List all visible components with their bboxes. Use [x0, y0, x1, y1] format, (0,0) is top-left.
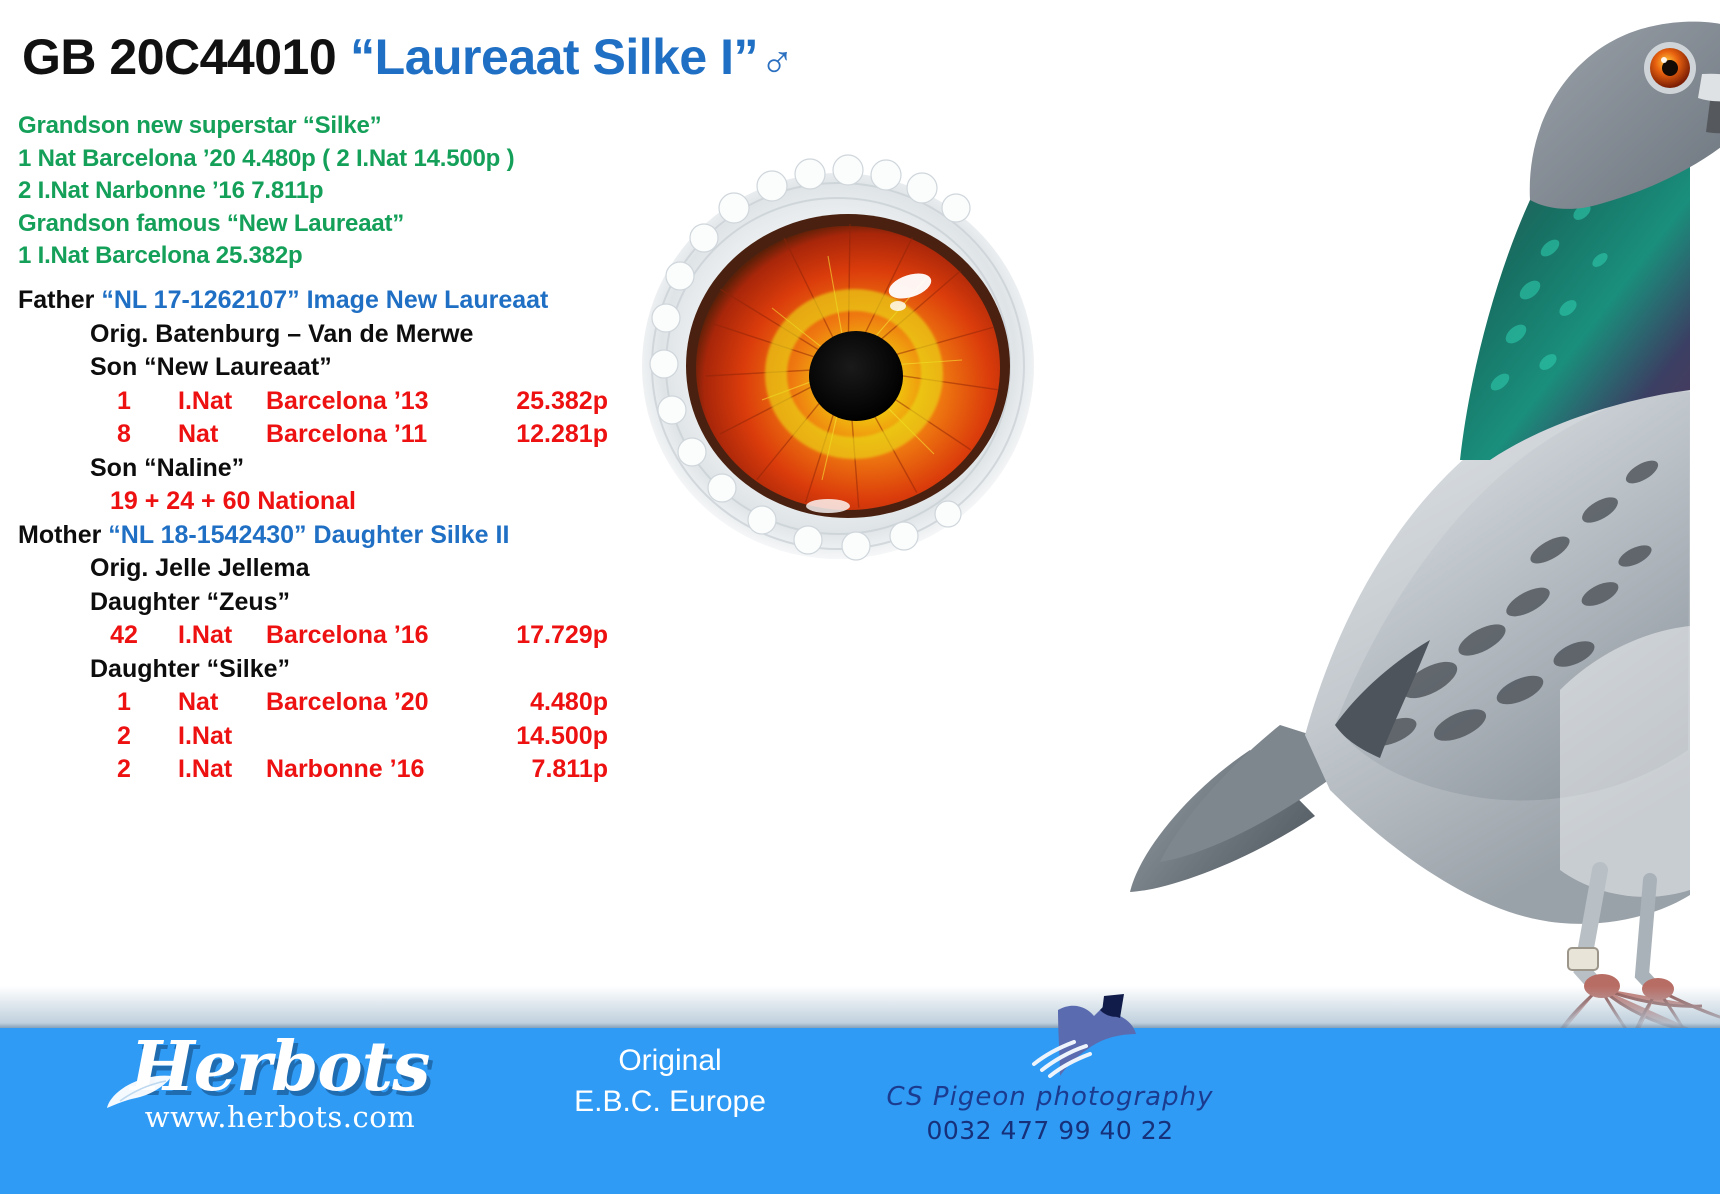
- highlight-line: 1 Nat Barcelona ’20 4.480p ( 2 I.Nat 14.…: [18, 143, 514, 176]
- highlight-list: Grandson new superstar “Silke” 1 Nat Bar…: [18, 110, 514, 273]
- pigeon-portrait-photo: [1130, 0, 1720, 1090]
- highlight-line: 2 I.Nat Narbonne ’16 7.811p: [18, 175, 514, 208]
- mother-origin: Orig. Jelle Jellema: [90, 552, 548, 586]
- result-race: Barcelona ’13: [266, 385, 429, 419]
- result-row: 1 I.Nat Barcelona ’13 25.382p: [18, 385, 548, 419]
- pigeon-eye-macro-photo: [622, 128, 1052, 568]
- result-position: 2: [96, 720, 152, 754]
- photographer-name: CS Pigeon photography: [880, 1082, 1220, 1112]
- father-label: Father: [18, 286, 94, 314]
- result-level: Nat: [178, 418, 256, 452]
- origin-block: Original E.B.C. Europe: [470, 1040, 870, 1122]
- bird-logo-icon: [1028, 972, 1148, 1080]
- highlight-line: Grandson new superstar “Silke”: [18, 110, 514, 143]
- origin-line-2: E.B.C. Europe: [470, 1081, 870, 1122]
- father-child-title: Son “Naline”: [90, 452, 548, 486]
- page-title: GB 20C44010“Laureaat Silke I”♂: [22, 28, 794, 87]
- result-race: Barcelona ’11: [266, 418, 427, 452]
- highlight-line: 1 I.Nat Barcelona 25.382p: [18, 240, 514, 273]
- father-heading: Father “NL 17-1262107” Image New Laureaa…: [18, 284, 548, 318]
- result-row: 42 I.Nat Barcelona ’16 17.729p: [18, 619, 548, 653]
- mother-description: Daughter Silke II: [314, 521, 510, 549]
- result-race: Narbonne ’16: [266, 753, 424, 787]
- feather-icon: [106, 1070, 176, 1112]
- mother-heading: Mother “NL 18-1542430” Daughter Silke II: [18, 519, 548, 553]
- pedigree-block: Father “NL 17-1262107” Image New Laureaa…: [18, 284, 548, 787]
- result-position: 1: [96, 686, 152, 720]
- result-position: 1: [96, 385, 152, 419]
- result-level: I.Nat: [178, 753, 256, 787]
- result-row: 1 Nat Barcelona ’20 4.480p: [18, 686, 548, 720]
- result-race: Barcelona ’16: [266, 619, 429, 653]
- mother-label: Mother: [18, 521, 101, 549]
- pedigree-card: GB 20C44010“Laureaat Silke I”♂ Grandson …: [0, 0, 1720, 1194]
- result-birds: 12.281p: [448, 418, 608, 452]
- result-race: Barcelona ’20: [266, 686, 429, 720]
- result-birds: 14.500p: [448, 720, 608, 754]
- result-birds: 17.729p: [448, 619, 608, 653]
- father-child-title: Son “New Laureaat”: [90, 351, 548, 385]
- result-level: I.Nat: [178, 619, 256, 653]
- result-row: 8 Nat Barcelona ’11 12.281p: [18, 418, 548, 452]
- result-level: I.Nat: [178, 385, 256, 419]
- result-plain: 19 + 24 + 60 National: [110, 485, 548, 519]
- mother-ring: “NL 18-1542430”: [108, 521, 306, 549]
- father-ring: “NL 17-1262107”: [101, 286, 299, 314]
- herbots-logo[interactable]: Herbots www.herbots.com: [110, 1030, 450, 1165]
- mother-child-title: Daughter “Silke”: [90, 653, 548, 687]
- result-birds: 4.480p: [448, 686, 608, 720]
- male-symbol-icon: ♂: [760, 34, 794, 86]
- pigeon-name: “Laureaat Silke I”: [350, 29, 758, 85]
- father-origin: Orig. Batenburg – Van de Merwe: [90, 318, 548, 352]
- result-birds: 25.382p: [448, 385, 608, 419]
- highlight-line: Grandson famous “New Laureaat”: [18, 208, 514, 241]
- result-level: Nat: [178, 686, 256, 720]
- result-level: I.Nat: [178, 720, 256, 754]
- ring-number: GB 20C44010: [22, 29, 336, 85]
- footer-fade: [0, 986, 1720, 1028]
- photographer-phone: 0032 477 99 40 22: [880, 1116, 1220, 1145]
- result-row: 2 I.Nat 14.500p: [18, 720, 548, 754]
- result-birds: 7.811p: [448, 753, 608, 787]
- result-position: 42: [96, 619, 152, 653]
- result-row: 2 I.Nat Narbonne ’16 7.811p: [18, 753, 548, 787]
- result-position: 2: [96, 753, 152, 787]
- origin-line-1: Original: [470, 1040, 870, 1081]
- father-description: Image New Laureaat: [307, 286, 549, 314]
- result-position: 8: [96, 418, 152, 452]
- mother-child-title: Daughter “Zeus”: [90, 586, 548, 620]
